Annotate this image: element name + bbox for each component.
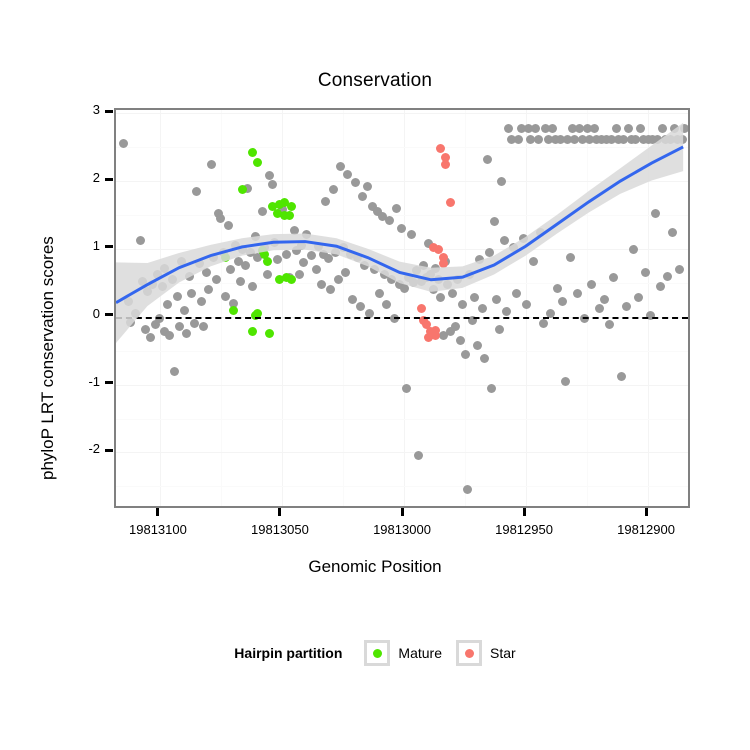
plot-panel: [114, 108, 690, 508]
y-axis-tick-label: -2: [70, 441, 100, 456]
y-axis-tick: [105, 313, 113, 316]
loess-smoother: [116, 110, 688, 506]
y-axis-tick: [105, 449, 113, 452]
x-axis-tick-label: 19812900: [591, 522, 701, 537]
y-axis-tick-label: 3: [70, 102, 100, 117]
y-axis-tick-label: 1: [70, 238, 100, 253]
y-axis-tick-label: 2: [70, 170, 100, 185]
legend-swatch-star: [465, 649, 474, 658]
x-axis-tick: [645, 508, 648, 516]
legend: Hairpin partition Mature Star: [0, 640, 750, 666]
y-axis-tick-label: 0: [70, 306, 100, 321]
y-axis-tick: [105, 110, 113, 113]
x-axis-tick-label: 19813050: [225, 522, 335, 537]
legend-item-star[interactable]: Star: [456, 640, 516, 666]
y-axis-tick-label: -1: [70, 374, 100, 389]
page-title: Conservation: [0, 70, 750, 92]
x-axis-tick: [278, 508, 281, 516]
x-axis-tick: [401, 508, 404, 516]
legend-title: Hairpin partition: [234, 645, 342, 661]
x-axis-tick-label: 19813100: [103, 522, 213, 537]
x-axis-tick-label: 19813000: [347, 522, 457, 537]
legend-label-star: Star: [490, 645, 516, 661]
y-axis-tick: [105, 178, 113, 181]
legend-label-mature: Mature: [398, 645, 442, 661]
chart-figure: Conservation 198131001981305019813000198…: [0, 0, 750, 750]
legend-key-star: [456, 640, 482, 666]
x-axis-tick: [156, 508, 159, 516]
y-axis-title: phyloP LRT conservation scores: [38, 236, 58, 480]
legend-key-mature: [364, 640, 390, 666]
x-axis-title: Genomic Position: [0, 557, 750, 577]
legend-item-mature[interactable]: Mature: [364, 640, 442, 666]
loess-confidence-band: [116, 123, 683, 343]
y-axis-tick: [105, 381, 113, 384]
legend-swatch-mature: [373, 649, 382, 658]
x-axis-tick-label: 19812950: [469, 522, 579, 537]
y-axis-tick: [105, 245, 113, 248]
x-axis-tick: [523, 508, 526, 516]
